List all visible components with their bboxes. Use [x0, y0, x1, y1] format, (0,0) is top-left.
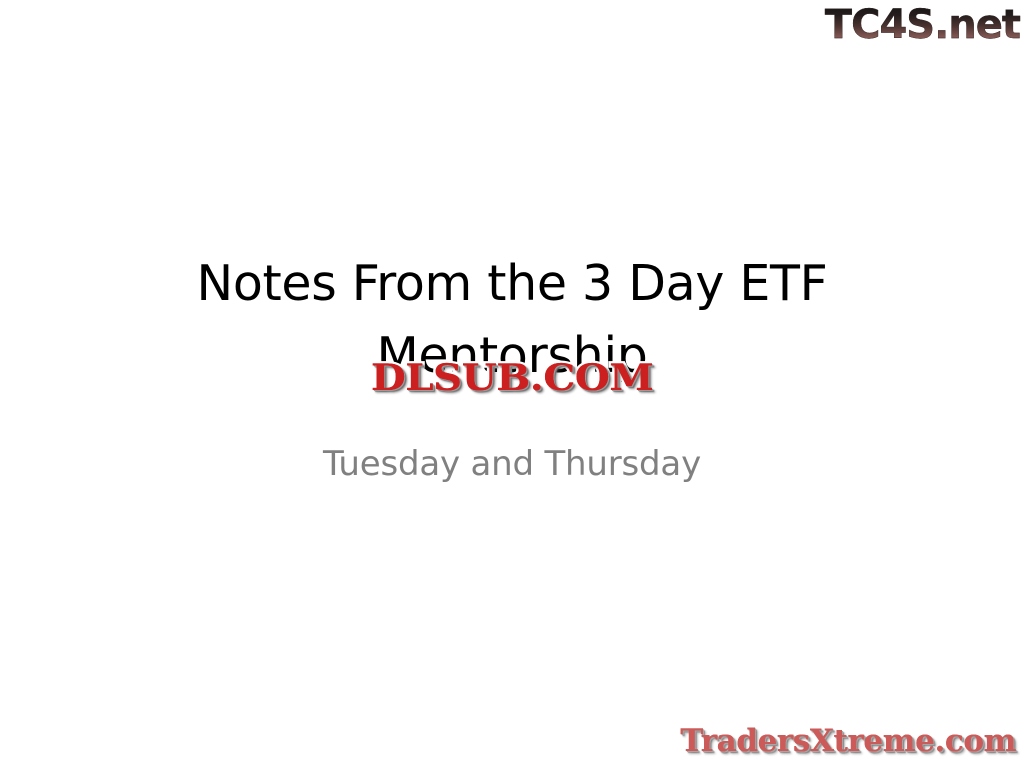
tradersxtreme-watermark-fill: TradersXtreme.com	[680, 722, 1016, 760]
subtitle-block: Tuesday and Thursday	[96, 442, 928, 486]
page-title-line-2: Mentorship	[96, 320, 928, 392]
presentation-slide: TC4S.net Notes From the 3 Day ETF Mentor…	[0, 0, 1024, 768]
tradersxtreme-watermark: TradersXtreme.com TradersXtreme.com	[680, 722, 1016, 760]
page-title-line-1: Notes From the 3 Day ETF	[96, 248, 928, 320]
title-block: Notes From the 3 Day ETF Mentorship	[96, 248, 928, 392]
tc4s-logo: TC4S.net	[825, 2, 1020, 48]
page-subtitle: Tuesday and Thursday	[96, 442, 928, 486]
tradersxtreme-watermark-text: TradersXtreme.com	[680, 722, 1016, 760]
